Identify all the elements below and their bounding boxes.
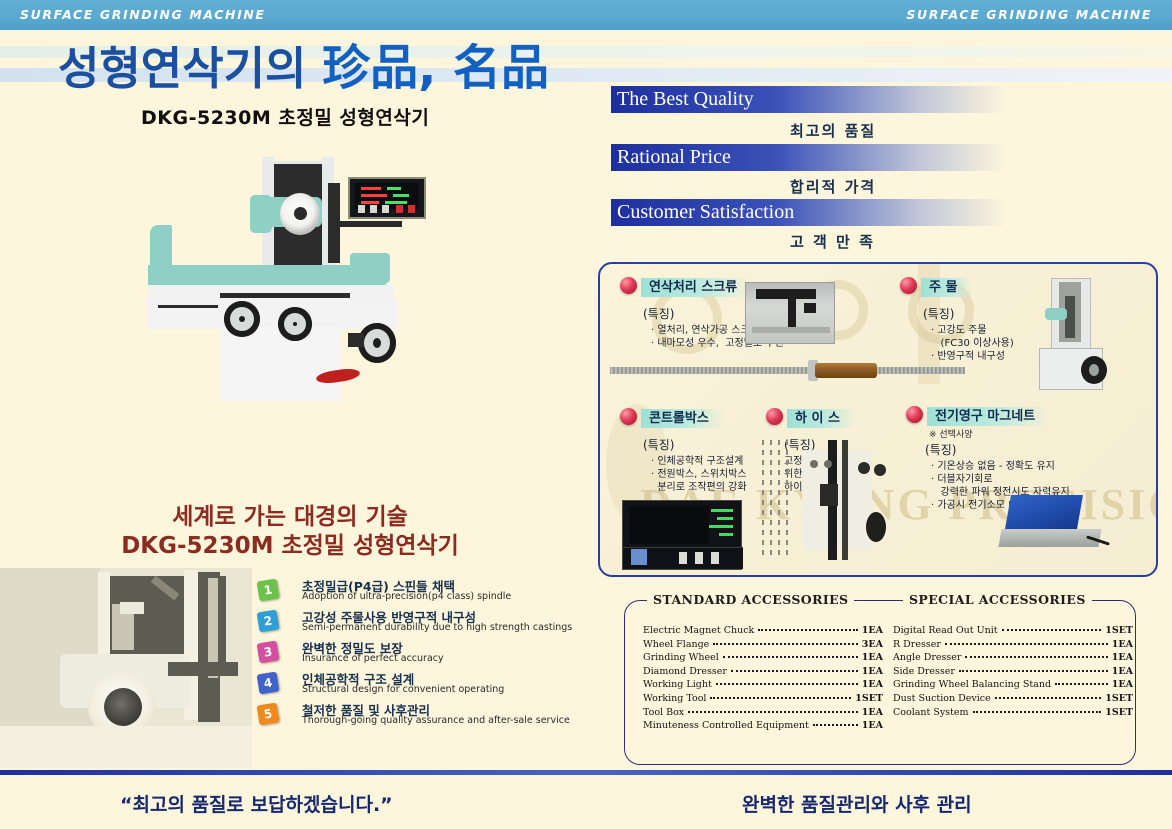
bullet-icon xyxy=(620,408,637,425)
dot-leader xyxy=(813,724,858,726)
accessory-qty: 1EA xyxy=(862,625,883,636)
quality-bar-rational-price: Rational Price xyxy=(611,144,1006,171)
accessory-name: Working Light xyxy=(643,679,712,690)
accessory-name: Electric Magnet Chuck xyxy=(643,625,754,636)
dot-leader xyxy=(716,683,858,685)
page-title-part2: 珍品, 名品 xyxy=(322,40,549,96)
dot-leader xyxy=(1055,683,1108,685)
feature-number-badge: 2 xyxy=(257,610,280,633)
panel-title-hice: 하 이 스 xyxy=(787,409,856,428)
accessory-name: Working Tool xyxy=(643,693,706,704)
accessory-name: Grinding Wheel Balancing Stand xyxy=(893,679,1051,690)
accessory-name: Angle Dresser xyxy=(893,652,961,663)
accessory-qty: 1EA xyxy=(862,679,883,690)
panel-label-screw: (특징) xyxy=(643,305,674,322)
standard-accessories-list: Electric Magnet Chuck1EA Wheel Flange3EA… xyxy=(643,625,883,734)
control-box-photo xyxy=(622,500,742,570)
accessory-qty: 1EA xyxy=(862,707,883,718)
panel-label-controlbox: (특징) xyxy=(643,436,674,453)
quality-label-best-quality-ko: 최고의 품질 xyxy=(790,120,876,141)
accessory-qty: 1EA xyxy=(862,666,883,677)
screw-closeup-photo xyxy=(745,282,835,344)
feature-label-en: Semi-permanent durability due to high st… xyxy=(302,622,572,633)
table-row: Side Dresser1EA xyxy=(893,666,1133,680)
accessory-qty: 1SET xyxy=(1105,625,1133,636)
table-row: Electric Magnet Chuck1EA xyxy=(643,625,883,639)
table-row: Working Light1EA xyxy=(643,679,883,693)
table-row: Working Tool1SET xyxy=(643,693,883,707)
machine-product-photo xyxy=(150,155,435,400)
quality-bar-customer-satisfaction: Customer Satisfaction xyxy=(611,199,1006,226)
slogan-line-2: DKG-5230M 초정밀 성형연삭기 xyxy=(0,531,580,561)
special-accessories-title: SPECIAL ACCESSORIES xyxy=(903,592,1092,607)
feature-label-en: Adoption of ultra-precision(p4 class) sp… xyxy=(302,591,511,602)
panel-label-casting: (특징) xyxy=(923,305,954,322)
column-assembly-photo xyxy=(1035,278,1120,390)
feature-label-en: Insurance of perfect accuracy xyxy=(302,653,444,664)
feature-label-en: Thorough-going quality assurance and aft… xyxy=(302,715,570,726)
table-row: Grinding Wheel1EA xyxy=(643,652,883,666)
dot-leader xyxy=(731,670,858,672)
table-row: Coolant System1SET xyxy=(893,707,1133,721)
page-title: 성형연삭기의 珍品, 名品 xyxy=(58,42,549,95)
panel-title-magnet: 전기영구 마그네트 xyxy=(927,407,1051,426)
slogan-line-1: 세계로 가는 대경의 기술 xyxy=(0,502,580,532)
special-accessories-list: Digital Read Out Unit1SET R Dresser1EA A… xyxy=(893,625,1133,720)
bullet-icon xyxy=(766,408,783,425)
header-label-left: SURFACE GRINDING MACHINE xyxy=(20,7,266,22)
brochure-page: SURFACE GRINDING MACHINE SURFACE GRINDIN… xyxy=(0,0,1172,829)
page-title-part1: 성형연삭기의 xyxy=(58,42,322,95)
feature-number-badge: 4 xyxy=(257,672,280,695)
panel-title-casting: 주 물 xyxy=(921,278,973,297)
list-item: 2 고강성 주물사용 반영구적 내구성 Semi-permanent durab… xyxy=(258,609,578,640)
list-item: 3 완벽한 정밀도 보장 Insurance of perfect accura… xyxy=(258,640,578,671)
ballscrew-photo xyxy=(610,363,965,378)
feature-list: 1 초정밀급(P4급) 스핀들 채택 Adoption of ultra-pre… xyxy=(258,578,578,733)
page-subtitle: DKG-5230M 초정밀 성형연삭기 xyxy=(141,103,429,130)
accessory-name: Digital Read Out Unit xyxy=(893,625,998,636)
list-item: 1 초정밀급(P4급) 스핀들 채택 Adoption of ultra-pre… xyxy=(258,578,578,609)
accessory-qty: 1EA xyxy=(862,652,883,663)
accessory-name: Side Dresser xyxy=(893,666,955,677)
accessory-qty: 1EA xyxy=(1112,679,1133,690)
panel-items-casting: · 고강도 주물 (FC30 이상사용) · 반영구적 내구성 xyxy=(931,324,1014,363)
table-row: Tool Box1EA xyxy=(643,707,883,721)
accessory-qty: 1EA xyxy=(1112,639,1133,650)
panel-title-screw: 연삭처리 스크류 xyxy=(641,278,753,297)
dot-leader xyxy=(688,711,858,713)
dot-leader xyxy=(723,656,858,658)
footer-text-left: “최고의 품질로 보답하겠습니다.” xyxy=(120,790,393,817)
electro-magnet-photo xyxy=(1000,495,1110,565)
dot-leader xyxy=(959,670,1108,672)
bullet-icon xyxy=(906,406,923,423)
grinding-head-photo xyxy=(0,568,252,768)
quality-label-rational-price-ko: 합리적 가격 xyxy=(790,176,876,197)
panel-note-magnet: ※ 선택사양 xyxy=(929,427,973,440)
accessory-qty: 1EA xyxy=(1112,652,1133,663)
dot-leader xyxy=(710,697,851,699)
bullet-icon xyxy=(620,277,637,294)
table-row: Grinding Wheel Balancing Stand1EA xyxy=(893,679,1133,693)
accessory-name: Tool Box xyxy=(643,707,684,718)
table-row: Diamond Dresser1EA xyxy=(643,666,883,680)
footer-text-right: 완벽한 품질관리와 사후 관리 xyxy=(742,790,972,817)
accessory-qty: 1SET xyxy=(1105,693,1133,704)
accessory-qty: 1EA xyxy=(862,720,883,731)
accessory-name: Diamond Dresser xyxy=(643,666,727,677)
dot-leader xyxy=(973,711,1102,713)
table-row: Dust Suction Device1SET xyxy=(893,693,1133,707)
table-row: Angle Dresser1EA xyxy=(893,652,1133,666)
accessory-qty: 1SET xyxy=(1105,707,1133,718)
quality-label-customer-satisfaction-ko: 고 객 만 족 xyxy=(790,231,875,252)
dot-leader xyxy=(713,643,857,645)
feature-number-badge: 3 xyxy=(257,641,280,664)
accessory-name: R Dresser xyxy=(893,639,941,650)
feature-number-badge: 5 xyxy=(257,703,280,726)
panel-title-controlbox: 콘트롤박스 xyxy=(641,409,725,428)
accessory-qty: 1EA xyxy=(1112,666,1133,677)
panel-label-magnet: (특징) xyxy=(925,441,956,458)
digital-readout-display xyxy=(348,177,426,219)
header-label-right: SURFACE GRINDING MACHINE xyxy=(906,7,1152,22)
dot-leader xyxy=(1002,629,1102,631)
accessories-box: STANDARD ACCESSORIES SPECIAL ACCESSORIES… xyxy=(624,600,1136,765)
feature-number-badge: 1 xyxy=(257,579,280,602)
dot-leader xyxy=(945,643,1108,645)
accessory-name: Coolant System xyxy=(893,707,969,718)
accessory-name: Wheel Flange xyxy=(643,639,709,650)
standard-accessories-title: STANDARD ACCESSORIES xyxy=(647,592,854,607)
bullet-icon xyxy=(900,277,917,294)
feature-label-en: Structural design for convenient operati… xyxy=(302,684,504,695)
panel-items-controlbox: · 인체공학적 구조설계 · 전원박스, 스위치박스 분리로 조작편의 강화 xyxy=(651,455,747,494)
dot-leader xyxy=(995,697,1102,699)
dot-leader xyxy=(965,656,1107,658)
table-row: Minuteness Controlled Equipment1EA xyxy=(643,720,883,734)
table-row: Wheel Flange3EA xyxy=(643,639,883,653)
accessory-name: Grinding Wheel xyxy=(643,652,719,663)
list-item: 4 인체공학적 구조 설계 Structural design for conv… xyxy=(258,671,578,702)
hice-tooling-photo xyxy=(762,440,890,575)
quality-bar-best-quality: The Best Quality xyxy=(611,86,1006,113)
accessory-qty: 1SET xyxy=(855,693,883,704)
table-row: R Dresser1EA xyxy=(893,639,1133,653)
list-item: 5 철저한 품질 및 사후관리 Thorough-going quality a… xyxy=(258,702,578,733)
accessory-qty: 3EA xyxy=(862,639,883,650)
accessory-name: Dust Suction Device xyxy=(893,693,991,704)
top-header-bar: SURFACE GRINDING MACHINE SURFACE GRINDIN… xyxy=(0,0,1172,30)
dot-leader xyxy=(758,629,857,631)
accessory-name: Minuteness Controlled Equipment xyxy=(643,720,809,731)
table-row: Digital Read Out Unit1SET xyxy=(893,625,1133,639)
